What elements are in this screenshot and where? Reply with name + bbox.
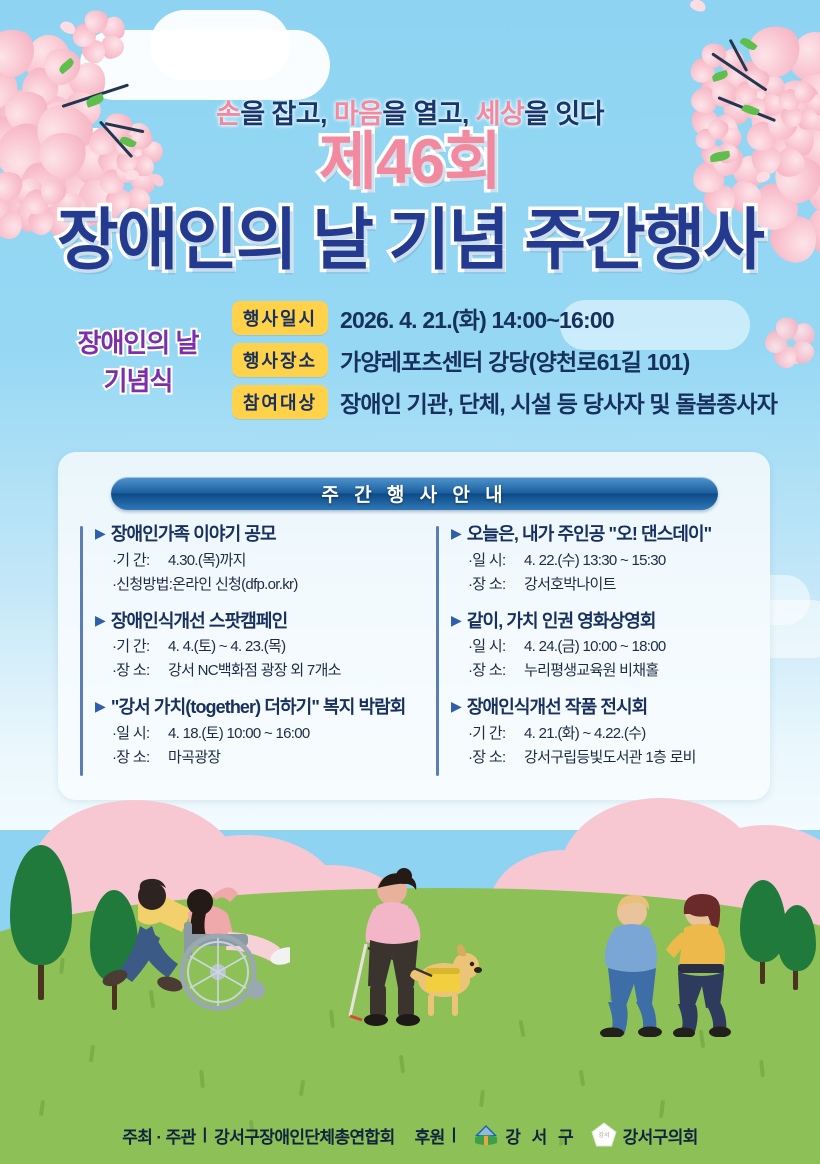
ceremony-label: 장애인의 날 기념식 [48, 325, 228, 400]
weekly-event-line-value: 강서 NC백화점 광장 외 7개소 [168, 659, 341, 680]
tagline-highlight: 세상 [476, 99, 524, 129]
weekly-event-line-key: ·장 소: [112, 659, 168, 680]
tagline-text: 을 잡고, [240, 99, 333, 129]
weekly-panel-header: 주 간 행 사 안 내 [111, 477, 718, 510]
footer-separator-2: | [452, 1126, 456, 1144]
blossom-icon [78, 0, 122, 36]
weekly-event-line: ·일 시: 4. 24.(금) 10:00 ~ 18:00 [451, 635, 770, 656]
weekly-event-title-text: "강서 가치(together) 더하기" 복지 박람회 [111, 697, 406, 719]
weekly-event-line-key: ·신청방법: [112, 573, 172, 594]
weekly-event: ▶장애인식개선 작품 전시회·기 간: 4. 21.(화) ~ 4.22.(수)… [451, 697, 770, 767]
footer-host-label: 주최 · 주관 [122, 1123, 195, 1148]
weekly-event-title-text: 같이, 가치 인권 영화상영회 [467, 611, 656, 633]
ceremony-row-value: 장애인 기관, 단체, 시설 등 당사자 및 돌봄종사자 [340, 385, 777, 419]
weekly-event-line-value: 4. 22.(수) 13:30 ~ 15:30 [524, 549, 666, 570]
weekly-event: ▶"강서 가치(together) 더하기" 복지 박람회·일 시: 4. 18… [95, 697, 414, 767]
ceremony-row: 행사장소가양레포츠센터 강당(양천로61길 101) [232, 344, 812, 376]
weekly-event-line: ·기 간: 4. 4.(토) ~ 4. 23.(목) [95, 635, 414, 656]
gangseo-council-logo-icon: 강서 [591, 1122, 617, 1148]
weekly-event-line-key: ·일 시: [468, 635, 524, 656]
weekly-event-line-key: ·장 소: [468, 659, 524, 680]
illustration-scene [0, 780, 820, 1164]
bullet-triangle-icon: ▶ [95, 611, 105, 630]
weekly-event: ▶같이, 가치 인권 영화상영회·일 시: 4. 24.(금) 10:00 ~ … [451, 611, 770, 681]
poster-root: 손을 잡고, 마음을 열고, 세상을 잇다 제46회 장애인의 날 기념 주간행… [0, 0, 820, 1164]
weekly-event-line: ·일 시: 4. 18.(토) 10:00 ~ 16:00 [95, 722, 414, 743]
weekly-event-title: ▶장애인가족 이야기 공모 [95, 524, 414, 546]
weekly-event-title: ▶"강서 가치(together) 더하기" 복지 박람회 [95, 697, 414, 719]
ceremony-row: 행사일시2026. 4. 21.(화) 14:00~16:00 [232, 302, 812, 334]
weekly-event-line: ·신청방법: 온라인 신청(dfp.or.kr) [95, 573, 414, 594]
ceremony-label-line2: 기념식 [48, 363, 228, 401]
weekly-event-line-key: ·기 간: [112, 549, 168, 570]
tagline-text: 을 열고, [382, 99, 475, 129]
ceremony-row-value: 가양레포츠센터 강당(양천로61길 101) [340, 343, 690, 377]
footer-host-name: 강서구장애인단체총연합회 [214, 1123, 394, 1148]
weekly-event-line: ·일 시: 4. 22.(수) 13:30 ~ 15:30 [451, 549, 770, 570]
weekly-event-title: ▶같이, 가치 인권 영화상영회 [451, 611, 770, 633]
weekly-event-line-value: 마곡광장 [168, 746, 220, 767]
weekly-event-line-value: 4. 21.(화) ~ 4.22.(수) [524, 722, 646, 743]
weekly-event-line-key: ·일 시: [468, 549, 524, 570]
ceremony-row: 참여대상장애인 기관, 단체, 시설 등 당사자 및 돌봄종사자 [232, 386, 812, 418]
ceremony-row-label: 참여대상 [232, 385, 328, 419]
weekly-event-line-value: 4. 18.(토) 10:00 ~ 16:00 [168, 722, 310, 743]
weekly-event-line: ·장 소: 강서구립등빛도서관 1층 로비 [451, 746, 770, 767]
weekly-columns: ▶장애인가족 이야기 공모·기 간: 4.30.(목)까지·신청방법: 온라인 … [58, 524, 770, 784]
footer-sponsor-1: 강 서 구 [505, 1123, 576, 1148]
ceremony-row-value: 2026. 4. 21.(화) 14:00~16:00 [340, 301, 614, 335]
bullet-triangle-icon: ▶ [95, 697, 105, 716]
footer-sponsor-2: 강서구의회 [623, 1123, 698, 1148]
weekly-event-line: ·장 소: 누리평생교육원 비채홀 [451, 659, 770, 680]
weekly-event-line: ·장 소: 강서 NC백화점 광장 외 7개소 [95, 659, 414, 680]
cloud-2 [150, 10, 290, 80]
weekly-event-line-key: ·장 소: [468, 573, 524, 594]
figure-guide-dog-walker [348, 868, 483, 1033]
weekly-event-line-value: 온라인 신청(dfp.or.kr) [172, 573, 297, 594]
weekly-event-line-key: ·장 소: [112, 746, 168, 767]
bullet-triangle-icon: ▶ [451, 611, 461, 630]
weekly-event-line: ·장 소: 마곡광장 [95, 746, 414, 767]
weekly-event-line: ·기 간: 4. 21.(화) ~ 4.22.(수) [451, 722, 770, 743]
tagline-highlight: 손 [216, 99, 240, 129]
weekly-event-title-text: 장애인가족 이야기 공모 [111, 524, 276, 546]
weekly-event-title-text: 장애인식개선 작품 전시회 [467, 697, 647, 719]
weekly-panel: 주 간 행 사 안 내 ▶장애인가족 이야기 공모·기 간: 4.30.(목)까… [58, 452, 770, 800]
weekly-event-line-key: ·기 간: [468, 722, 524, 743]
weekly-event-title: ▶오늘은, 내가 주인공 "오! 댄스데이" [451, 524, 770, 546]
weekly-left-column: ▶장애인가족 이야기 공모·기 간: 4.30.(목)까지·신청방법: 온라인 … [58, 524, 414, 784]
weekly-panel-header-text: 주 간 행 사 안 내 [321, 480, 507, 507]
weekly-event-line-key: ·기 간: [112, 635, 168, 656]
weekly-event-title-text: 장애인식개선 스팟캠페인 [111, 611, 287, 633]
weekly-event-title: ▶장애인식개선 작품 전시회 [451, 697, 770, 719]
ceremony-rows: 행사일시2026. 4. 21.(화) 14:00~16:00행사장소가양레포츠… [232, 302, 812, 428]
title-number: 제46회 [0, 131, 820, 194]
weekly-event: ▶장애인가족 이야기 공모·기 간: 4.30.(목)까지·신청방법: 온라인 … [95, 524, 414, 594]
figure-wheelchair-pair [60, 860, 290, 1035]
weekly-event-line: ·기 간: 4.30.(목)까지 [95, 549, 414, 570]
weekly-event-line-key: ·장 소: [468, 746, 524, 767]
title-main: 장애인의 날 기념 주간행사 [0, 203, 820, 278]
weekly-event-line-value: 4.30.(목)까지 [168, 549, 246, 570]
weekly-event-line-value: 누리평생교육원 비채홀 [524, 659, 658, 680]
gangseo-gu-logo-icon [473, 1124, 499, 1146]
tagline-highlight: 마음 [334, 99, 382, 129]
weekly-event-line-value: 4. 24.(금) 10:00 ~ 18:00 [524, 635, 666, 656]
svg-text:강서: 강서 [598, 1131, 609, 1139]
tagline-text: 을 잇다 [524, 99, 604, 129]
weekly-event-line-value: 4. 4.(토) ~ 4. 23.(목) [168, 635, 285, 656]
weekly-event-line-value: 강서구립등빛도서관 1층 로비 [524, 746, 696, 767]
ceremony-label-line1: 장애인의 날 [48, 325, 228, 363]
figure-two-people-talking [600, 892, 740, 1037]
ceremony-row-label: 행사일시 [232, 301, 328, 335]
weekly-event: ▶오늘은, 내가 주인공 "오! 댄스데이"·일 시: 4. 22.(수) 13… [451, 524, 770, 594]
weekly-event-line: ·장 소: 강서호박나이트 [451, 573, 770, 594]
weekly-event-title-text: 오늘은, 내가 주인공 "오! 댄스데이" [467, 524, 711, 546]
bullet-triangle-icon: ▶ [451, 524, 461, 543]
weekly-event-line-key: ·일 시: [112, 722, 168, 743]
weekly-event: ▶장애인식개선 스팟캠페인·기 간: 4. 4.(토) ~ 4. 23.(목)·… [95, 611, 414, 681]
ceremony-row-label: 행사장소 [232, 343, 328, 377]
footer-sponsor-label: 후원 [415, 1123, 445, 1148]
weekly-event-line-value: 강서호박나이트 [524, 573, 616, 594]
weekly-event-title: ▶장애인식개선 스팟캠페인 [95, 611, 414, 633]
footer: 주최 · 주관 | 강서구장애인단체총연합회 후원 | 강 서 구 강서 강서구… [0, 1118, 820, 1152]
bullet-triangle-icon: ▶ [451, 697, 461, 716]
bullet-triangle-icon: ▶ [95, 524, 105, 543]
footer-separator: | [203, 1126, 207, 1144]
tagline: 손을 잡고, 마음을 열고, 세상을 잇다 [0, 92, 820, 131]
weekly-right-column: ▶오늘은, 내가 주인공 "오! 댄스데이"·일 시: 4. 22.(수) 13… [414, 524, 770, 784]
